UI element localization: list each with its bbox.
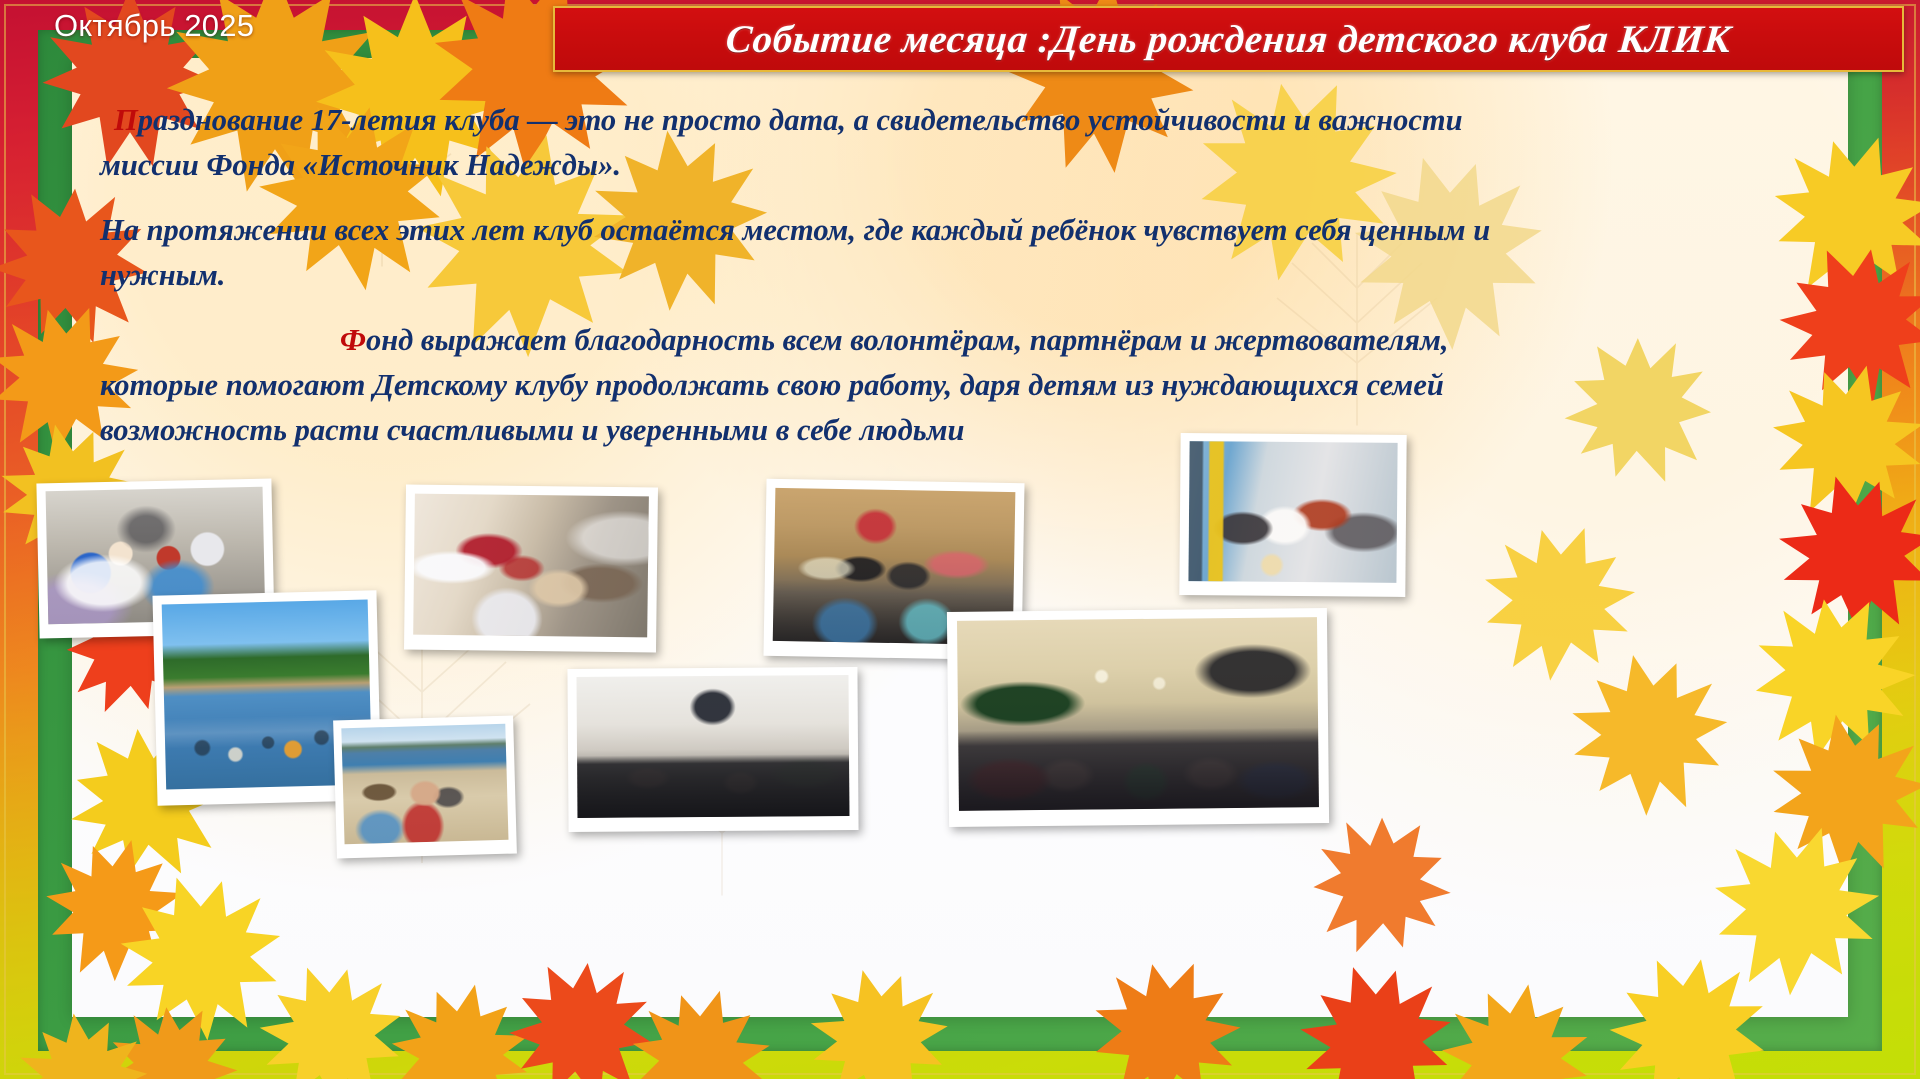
paragraph-3: Фонд выражает благодарность всем волонтё…	[100, 318, 1498, 453]
photo-craft-workshop-group	[404, 484, 658, 652]
paragraph-1-drop-cap: П	[114, 103, 138, 137]
paragraph-1-text: разднование 17-летия клуба — это не прос…	[100, 103, 1463, 182]
event-title-text: Событие месяца :День рождения детского к…	[724, 17, 1733, 62]
event-title-banner: Событие месяца :День рождения детского к…	[553, 6, 1904, 72]
autumn-poster: Октябрь 2025 Событие месяца :День рожден…	[0, 0, 1920, 1079]
paragraph-3-drop-cap: Ф	[340, 323, 366, 357]
body-text-block: Празднование 17-летия клуба — это не про…	[100, 98, 1498, 473]
photo-hall-seated-children	[567, 667, 858, 832]
paragraph-2: На протяжении всех этих лет клуб остаётс…	[100, 208, 1498, 298]
photo-beach-children	[333, 716, 517, 859]
paragraph-1: Празднование 17-летия клуба — это не про…	[100, 98, 1498, 188]
photo-christmas-group	[947, 608, 1329, 827]
paragraph-3-text: онд выражает благодарность всем волонтёр…	[100, 323, 1449, 447]
paragraph-2-text: На протяжении всех этих лет клуб остаётс…	[100, 213, 1490, 292]
date-label: Октябрь 2025	[54, 8, 254, 44]
